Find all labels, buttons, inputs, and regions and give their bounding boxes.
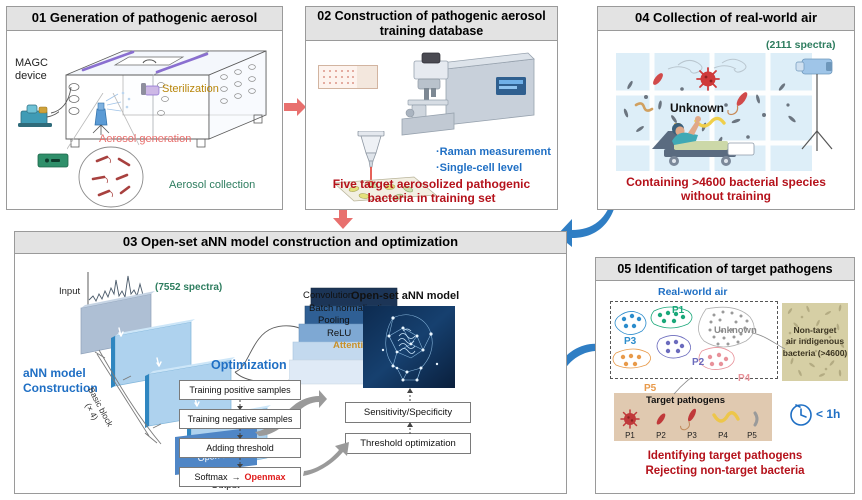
cluster-label-p3: P3 <box>624 336 636 347</box>
cluster-label-unknown: Unknown <box>714 325 757 336</box>
panel-04-collection: 04 Collection of real-world air (2111 sp… <box>597 6 855 210</box>
cluster-label-p2: P2 <box>692 357 704 368</box>
optimization-title: Optimization <box>211 358 287 372</box>
unknown-label-p04: Unknown <box>670 101 724 115</box>
panel-05-identification: 05 Identification of target pathogens Re… <box>595 257 855 494</box>
time-under-1h-label: < 1h <box>816 407 840 421</box>
panel-05-title: 05 Identification of target pathogens <box>596 258 854 281</box>
arrow-p01-to-p02 <box>283 95 307 119</box>
target-pathogens-title: Target pathogens <box>646 395 725 406</box>
cluster-to-strip-connector <box>670 377 694 395</box>
panel-05-caption: Identifying target pathogens Rejecting n… <box>596 449 854 479</box>
sterilization-label: Sterilization <box>162 83 219 95</box>
panel-01-body: MAGC device <box>7 31 282 209</box>
panel-03-model: 03 Open-set aNN model construction and o… <box>14 231 567 494</box>
brain-to-sensitivity-connector <box>405 388 415 402</box>
pathogen-label-p4: P4 <box>715 431 731 440</box>
clock-icon <box>788 401 814 427</box>
cluster-label-p1: P1 <box>672 305 684 316</box>
panel-03-title: 03 Open-set aNN model construction and o… <box>15 232 566 254</box>
bullet-raman-measurement: ·Raman measurement <box>436 145 551 161</box>
target-pathogen-icons <box>618 407 768 431</box>
pathogen-label-p3: P3 <box>684 431 700 440</box>
panel-02-caption: Five target aerosolized pathogenic bacte… <box>306 177 557 206</box>
air-sampler-icon <box>794 53 848 165</box>
raman-bullets: ·Raman measurement ·Single-cell level <box>436 145 551 177</box>
softmax-label: Softmax <box>194 472 227 482</box>
panel-04-title: 04 Collection of real-world air <box>598 7 854 31</box>
panel-02-body: ·Raman measurement ·Single-cell level Fi… <box>306 41 557 209</box>
flowbox-sensitivity-specificity: Sensitivity/Specificity <box>345 402 471 423</box>
raman-spectrometer-illustration <box>394 51 544 141</box>
non-target-bacteria-box: Non-target air indigenous bacteria (>460… <box>782 303 848 381</box>
pathogen-label-p5: P5 <box>744 431 760 440</box>
aerosol-collection-label: Aerosol collection <box>169 179 255 191</box>
panel-05-body: Real-world air <box>596 281 854 493</box>
arrow-optimization-to-validation <box>303 440 353 482</box>
flow-connector-right <box>403 421 417 435</box>
panel-02-title: 02 Construction of pathogenic aerosol tr… <box>306 7 557 41</box>
aerosol-generation-label: Aerosol generation <box>99 133 191 145</box>
bullet-single-cell-level: ·Single-cell level <box>436 161 551 177</box>
real-world-air-label: Real-world air <box>658 286 727 298</box>
flow-connectors-left <box>233 398 249 490</box>
open-set-model-title: Open-set aNN model <box>351 290 459 302</box>
magc-device-label: MAGC device <box>15 57 48 82</box>
panel-04-caption: Containing >4600 bacterial species witho… <box>598 175 854 204</box>
flowbox-training-positive: Training positive samples <box>179 380 301 400</box>
panel-04-body: (2111 spectra) <box>598 31 854 209</box>
pathogen-label-p2: P2 <box>653 431 669 440</box>
panel-03-body: aNN model Construction Input (7552 spect… <box>15 254 566 493</box>
openmax-label: Openmax <box>245 472 286 482</box>
unknown-to-nontarget-connector <box>752 329 786 355</box>
panel-01-generation: 01 Generation of pathogenic aerosol MAGC… <box>6 6 283 210</box>
pathogen-label-p1: P1 <box>622 431 638 440</box>
brain-network-image <box>363 306 455 388</box>
flowbox-threshold-optimization: Threshold optimization <box>345 433 471 454</box>
spectra-count-2111: (2111 spectra) <box>766 39 835 51</box>
panel-02-database: 02 Construction of pathogenic aerosol tr… <box>305 6 558 210</box>
sample-slide-icon <box>318 65 378 89</box>
panel-01-title: 01 Generation of pathogenic aerosol <box>7 7 282 31</box>
cluster-label-p4: P4 <box>738 373 750 384</box>
